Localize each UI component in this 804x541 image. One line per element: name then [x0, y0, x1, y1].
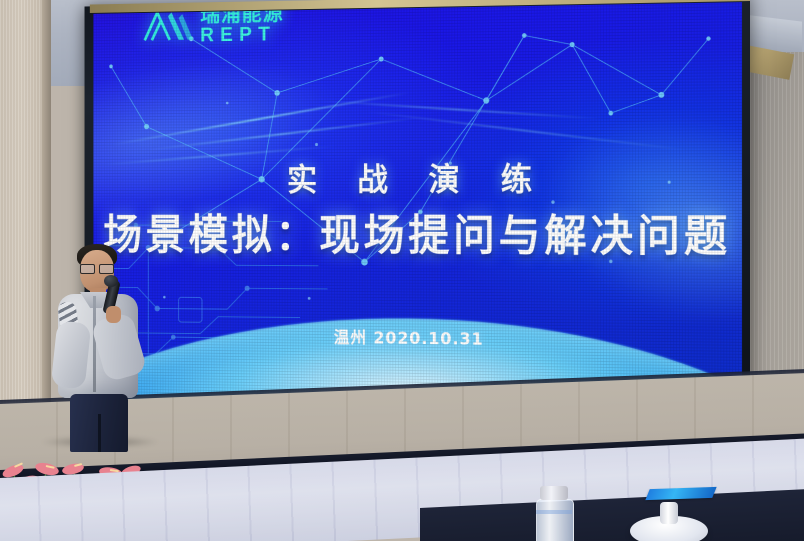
bottle-label-band: [536, 510, 572, 514]
screen-surface: 瑞浦能源 REPT 实 战 演 练 场景模拟：现场提问与解决问题 温州 2020…: [93, 2, 742, 412]
cup-knob: [660, 502, 678, 524]
presentation-scene: 瑞浦能源 REPT 实 战 演 练 场景模拟：现场提问与解决问题 温州 2020…: [0, 0, 804, 541]
presenter-hand: [106, 306, 121, 323]
left-wall-panel: [0, 0, 48, 446]
water-bottle: [534, 486, 574, 541]
bottle-cap: [540, 486, 568, 500]
glasses-icon: [80, 264, 114, 272]
bottle-body: [536, 499, 574, 541]
microphone-head: [104, 275, 118, 287]
presenter: [44, 244, 152, 449]
led-video-wall: 瑞浦能源 REPT 实 战 演 练 场景模拟：现场提问与解决问题 温州 2020…: [85, 0, 750, 422]
lidded-cup: [630, 502, 708, 541]
led-pixel-grid: [93, 2, 742, 412]
